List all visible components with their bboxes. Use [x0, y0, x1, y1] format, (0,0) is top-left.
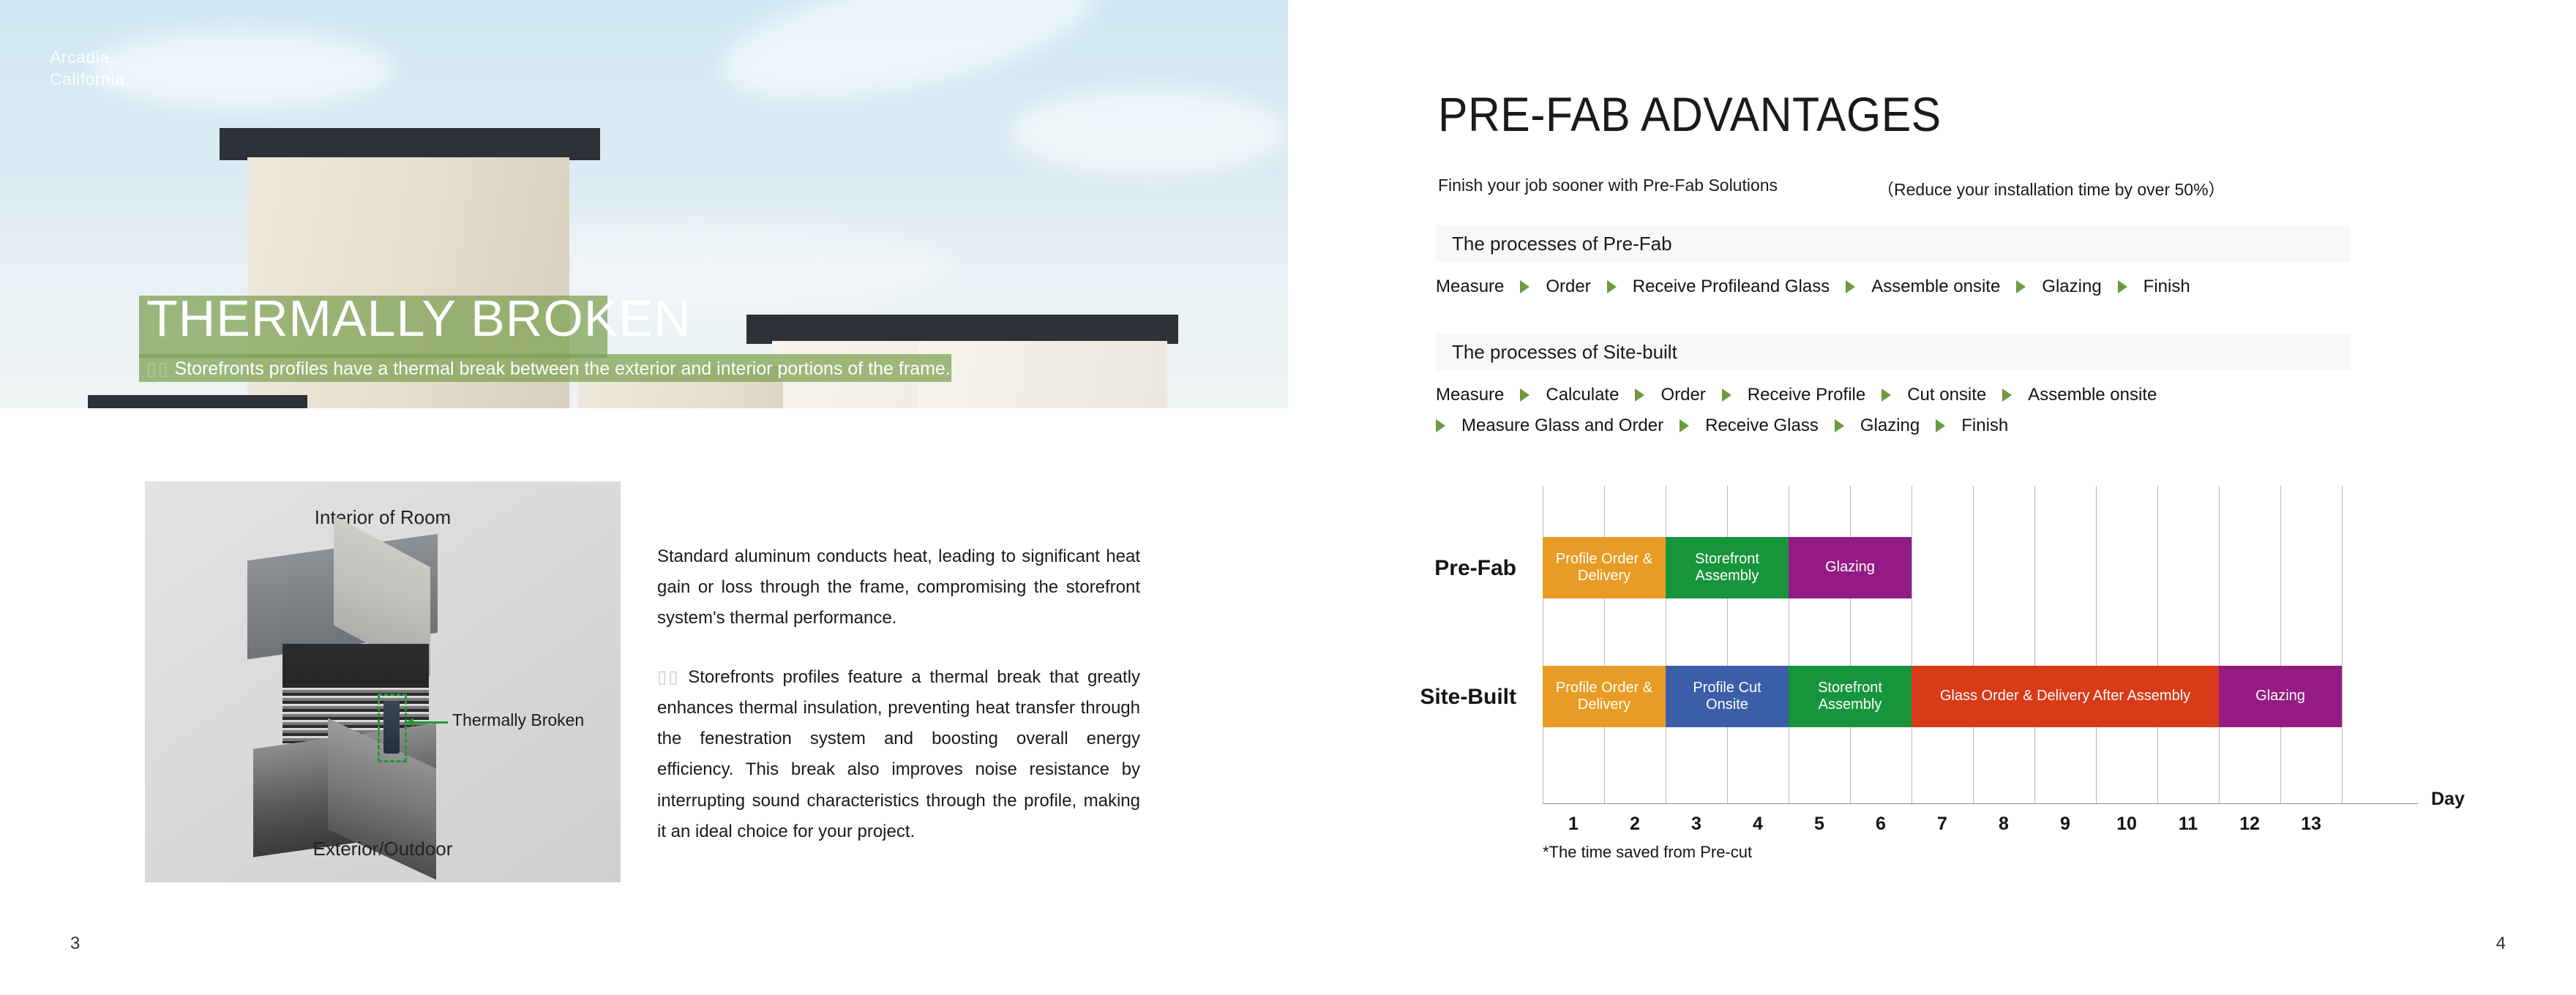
chart-gridline	[1973, 486, 1974, 803]
chart-gridline	[2342, 486, 2343, 803]
flow-step: Glazing	[2042, 277, 2101, 297]
x-axis-label: Day	[2431, 789, 2465, 810]
subtitle-row: Finish your job sooner with Pre-Fab Solu…	[1438, 176, 1778, 195]
x-axis-tick-label: 6	[1876, 814, 1886, 835]
flow-arrow-icon	[2002, 388, 2012, 402]
chart-gridline	[2096, 486, 2097, 803]
flow-step: Measure Glass and Order	[1461, 416, 1663, 436]
flow-step: Measure	[1436, 277, 1504, 297]
flow-arrow-icon	[2118, 280, 2127, 293]
x-axis-tick-label: 13	[2301, 814, 2321, 835]
house-roof	[746, 315, 1178, 344]
chart-gridline	[1850, 486, 1851, 803]
chart-gridline	[1789, 486, 1789, 803]
brand-name-redacted: ▯▯	[146, 358, 170, 379]
chart-gridline	[1727, 486, 1728, 803]
x-axis-tick-label: 2	[1630, 814, 1640, 835]
flow-arrow-icon	[2016, 280, 2026, 293]
flow-step: Measure	[1436, 385, 1504, 405]
flow-step: Glazing	[1860, 416, 1920, 436]
chart-gridline	[1666, 486, 1666, 803]
process-flow-prefab: MeasureOrderReceive Profileand GlassAsse…	[1436, 277, 2387, 297]
flow-step: Assemble onsite	[1871, 277, 2000, 297]
chart-x-axis	[1543, 803, 2418, 804]
flow-arrow-icon	[1607, 280, 1617, 293]
flow-step: Receive Profileand Glass	[1633, 277, 1830, 297]
hero-subtitle: ▯▯ Storefronts profiles have a thermal b…	[146, 358, 951, 380]
cloud-shape	[1010, 88, 1288, 176]
paragraph-2-text: Storefronts profiles feature a thermal b…	[657, 667, 1140, 841]
gantt-row-label-sitebuilt: Site-Built	[1420, 685, 1516, 710]
brand-name-redacted: ▯▯	[657, 667, 679, 687]
flow-step: Finish	[2143, 277, 2190, 297]
process-flow-sitebuilt-line2: Measure Glass and OrderReceive GlassGlaz…	[1436, 416, 2387, 436]
gantt-bar: Storefront Assembly	[1666, 537, 1789, 598]
chart-gridline	[1912, 486, 1912, 803]
gantt-bar: Profile Order & Delivery	[1543, 537, 1666, 598]
gantt-bar: Storefront Assembly	[1789, 666, 1912, 727]
section-heading-prefab: The processes of Pre-Fab	[1436, 225, 2351, 262]
flow-step: Order	[1546, 277, 1590, 297]
flow-arrow-icon	[1520, 280, 1529, 293]
x-axis-tick-label: 3	[1691, 814, 1701, 835]
hero-location-caption: Arcadia, California.	[50, 47, 130, 91]
flow-arrow-icon	[1846, 280, 1855, 293]
figure-caption-exterior: Exterior/Outdoor	[145, 838, 621, 860]
flow-step: Assemble onsite	[2028, 385, 2157, 405]
figure-caption-interior: Interior of Room	[145, 506, 621, 529]
flow-arrow-icon	[1835, 419, 1844, 432]
flow-arrow-icon	[1520, 388, 1529, 402]
thermal-break-callout-label: Thermally Broken	[452, 710, 584, 730]
gantt-row-label-prefab: Pre-Fab	[1434, 556, 1516, 581]
flow-arrow-icon	[1635, 388, 1644, 402]
section-heading-prefab-label: The processes of Pre-Fab	[1452, 233, 1672, 255]
flow-arrow-icon	[1882, 388, 1891, 402]
x-axis-tick-label: 1	[1568, 814, 1579, 835]
gantt-bar: Glass Order & Delivery After Assembly	[1912, 666, 2219, 727]
flow-step: Cut onsite	[1907, 385, 1986, 405]
gantt-bar: Profile Cut Onsite	[1666, 666, 1789, 727]
flow-step: Receive Profile	[1748, 385, 1865, 405]
section-heading-sitebuilt: The processes of Site-built	[1436, 334, 2351, 370]
subtitle-left: Finish your job sooner with Pre-Fab Solu…	[1438, 176, 1778, 195]
page-title: PRE-FAB ADVANTAGES	[1438, 86, 1942, 142]
flow-step: Calculate	[1546, 385, 1619, 405]
left-body-copy: Standard aluminum conducts heat, leading…	[657, 541, 1140, 847]
cloud-shape	[88, 29, 395, 110]
gantt-bar: Glazing	[2219, 666, 2342, 727]
chart-gridline	[2219, 486, 2220, 803]
page-number-left: 3	[70, 934, 80, 954]
flow-arrow-icon	[1722, 388, 1731, 402]
paragraph-1: Standard aluminum conducts heat, leading…	[657, 541, 1140, 634]
paragraph-2: ▯▯ Storefronts profiles feature a therma…	[657, 662, 1140, 847]
gantt-bar: Glazing	[1789, 537, 1912, 598]
chart-gridline	[2034, 486, 2035, 803]
hero-image: THERMALLY BROKEN ▯▯ Storefronts profiles…	[0, 0, 1294, 408]
house-wing-wall	[918, 341, 1167, 408]
process-flow-sitebuilt-line1: MeasureCalculateOrderReceive ProfileCut …	[1436, 385, 2387, 405]
x-axis-tick-label: 11	[2179, 814, 2198, 835]
flow-arrow-icon	[1680, 419, 1689, 432]
gantt-chart: Day Pre-Fab Site-Built 12345678910111213…	[1543, 486, 2349, 803]
chart-footnote: *The time saved from Pre-cut	[1543, 843, 1752, 862]
flow-step: Receive Glass	[1705, 416, 1819, 436]
x-axis-tick-label: 5	[1814, 814, 1824, 835]
house-roof	[88, 395, 307, 408]
page-number-right: 4	[2496, 934, 2506, 954]
flow-step: Finish	[1961, 416, 2008, 436]
chart-gridline	[2157, 486, 2158, 803]
flow-arrow-icon	[1936, 419, 1945, 432]
x-axis-tick-label: 12	[2239, 814, 2260, 835]
thermal-break-core	[383, 701, 400, 754]
chart-gridline	[2280, 486, 2281, 803]
thermal-break-figure: Interior of Room Thermally Broken Exteri…	[145, 481, 621, 882]
flow-arrow-icon	[1436, 419, 1445, 432]
subtitle-right: （Reduce your installation time by over 5…	[1877, 176, 2225, 200]
house-roof	[220, 128, 600, 160]
x-axis-tick-label: 7	[1937, 814, 1947, 835]
hero-subtitle-text: Storefronts profiles have a thermal brea…	[170, 358, 951, 379]
x-axis-tick-label: 10	[2116, 814, 2137, 835]
chart-gridline	[1604, 486, 1605, 803]
magazine-spread: THERMALLY BROKEN ▯▯ Storefronts profiles…	[0, 0, 2576, 995]
x-axis-tick-label: 9	[2060, 814, 2070, 835]
flow-step: Order	[1660, 385, 1705, 405]
x-axis-tick-label: 8	[1999, 814, 2009, 835]
left-page: THERMALLY BROKEN ▯▯ Storefronts profiles…	[0, 0, 1288, 995]
callout-arrow-icon	[413, 721, 448, 724]
gantt-bar: Profile Order & Delivery	[1543, 666, 1666, 727]
section-heading-sitebuilt-label: The processes of Site-built	[1452, 341, 1677, 364]
hero-title: THERMALLY BROKEN	[146, 293, 692, 344]
x-axis-tick-label: 4	[1753, 814, 1763, 835]
chart-gridline	[1543, 486, 1543, 803]
